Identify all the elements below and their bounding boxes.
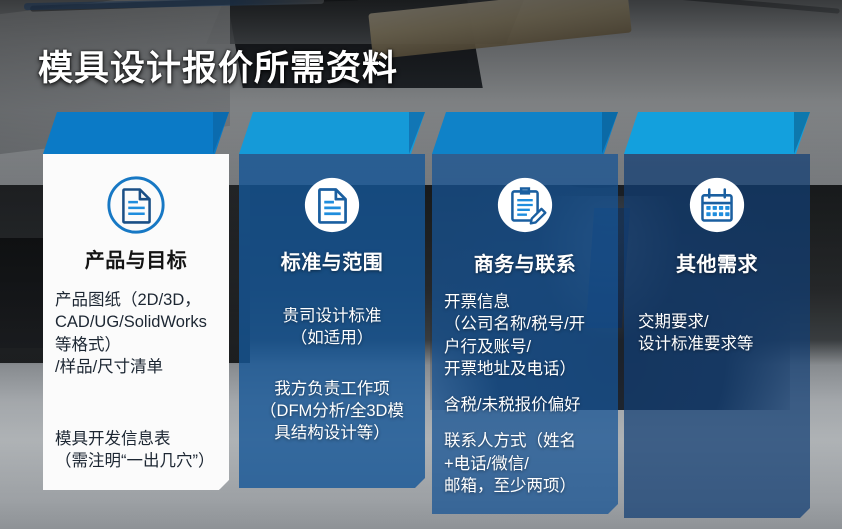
document-icon <box>105 174 167 236</box>
card-top-banner <box>43 112 229 154</box>
card-standards-and-scope[interactable]: 标准与范围 贵司设计标准 （如适用） 我方负责工作项 （DFM分析/全3D模 具… <box>239 112 425 488</box>
card-body: 商务与联系 开票信息 （公司名称/税号/开 户行及账号/ 开票地址及电话） 含税… <box>432 154 618 514</box>
card-heading: 标准与范围 <box>247 246 417 275</box>
card-top-banner <box>432 112 618 154</box>
card-paragraph: 开票信息 （公司名称/税号/开 户行及账号/ 开票地址及电话） <box>440 291 610 380</box>
card-top-banner <box>624 112 810 154</box>
card-paragraph: 我方负责工作项 （DFM分析/全3D模 具结构设计等） <box>247 378 417 445</box>
card-body: 产品与目标 产品图纸（2D/3D， CAD/UG/SolidWorks 等格式）… <box>43 154 229 490</box>
card-banner-band <box>239 112 425 154</box>
card-other-requirements[interactable]: 其他需求 交期要求/ 设计标准要求等 <box>624 112 810 518</box>
card-paragraph: 含税/未税报价偏好 <box>440 394 610 416</box>
card-banner-band <box>624 112 810 154</box>
card-top-banner <box>239 112 425 154</box>
card-paragraph: 贵司设计标准 （如适用） <box>247 305 417 350</box>
card-body: 其他需求 交期要求/ 设计标准要求等 <box>624 154 810 518</box>
card-banner-band <box>432 112 618 154</box>
card-product-and-goals[interactable]: 产品与目标 产品图纸（2D/3D， CAD/UG/SolidWorks 等格式）… <box>43 112 229 490</box>
card-paragraph: 模具开发信息表 （需注明“一出几穴”） <box>51 428 221 473</box>
card-paragraph: 交期要求/ 设计标准要求等 <box>632 311 802 356</box>
card-body: 标准与范围 贵司设计标准 （如适用） 我方负责工作项 （DFM分析/全3D模 具… <box>239 154 425 488</box>
card-paragraph: 联系人方式（姓名 +电话/微信/ 邮箱，至少两项） <box>440 430 610 497</box>
card-business-and-contact[interactable]: 商务与联系 开票信息 （公司名称/税号/开 户行及账号/ 开票地址及电话） 含税… <box>432 112 618 514</box>
card-heading: 产品与目标 <box>51 244 221 273</box>
card-heading: 商务与联系 <box>440 248 610 277</box>
card-row: 产品与目标 产品图纸（2D/3D， CAD/UG/SolidWorks 等格式）… <box>0 0 842 529</box>
card-heading: 其他需求 <box>632 248 802 277</box>
calendar-icon <box>686 174 748 236</box>
card-banner-band <box>43 112 229 154</box>
card-paragraph: 产品图纸（2D/3D， CAD/UG/SolidWorks 等格式） /样品/尺… <box>51 289 221 378</box>
clipboard-pencil-icon <box>494 174 556 236</box>
slide-canvas: 模具设计报价所需资料 产品与目标 产品图纸（2D/3D， CAD/UG/Soli… <box>0 0 842 529</box>
document-icon <box>301 174 363 236</box>
